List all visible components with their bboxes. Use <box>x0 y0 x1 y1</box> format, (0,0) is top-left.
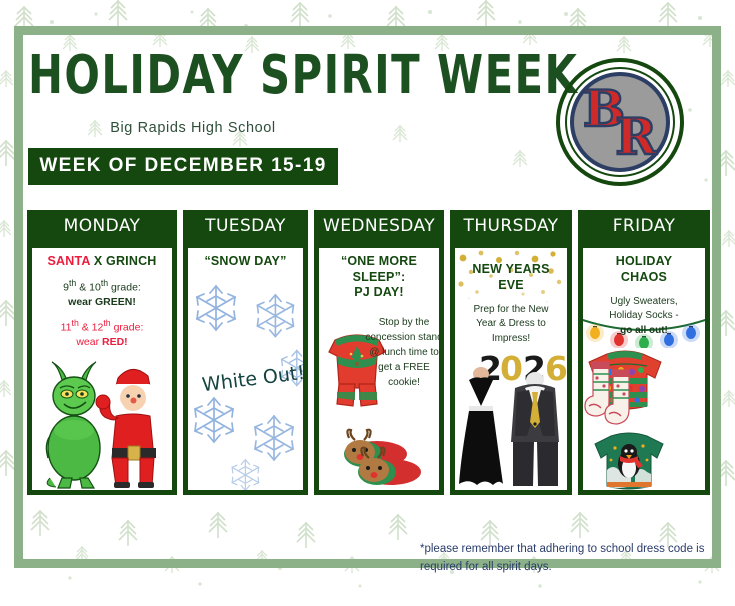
day-body-monday: SANTA X GRINCH 9th & 10th grade:wear GRE… <box>27 243 177 495</box>
monday-headline: SANTA X GRINCH <box>36 254 168 270</box>
thursday-art-gown-suit <box>455 366 567 490</box>
monday-art-grinch-santa <box>32 340 172 490</box>
br-logo: B R <box>556 58 684 186</box>
friday-art-holiday-socks <box>583 358 637 430</box>
dress-code-note: *please remember that adhering to school… <box>420 541 720 577</box>
thursday-headline-l1: NEW YEARS <box>472 262 549 276</box>
day-header-monday: MONDAY <box>27 210 177 243</box>
wednesday-headline-l1: “ONE MORE <box>341 254 417 268</box>
svg-text:R: R <box>615 107 657 166</box>
day-column-tuesday[interactable]: TUESDAY “SNOW DAY” <box>183 210 308 495</box>
day-body-thursday: NEW YEARS EVE Prep for the New Year & Dr… <box>450 243 572 495</box>
date-banner: WEEK OF DECEMBER 15-19 <box>28 148 338 185</box>
friday-body-l2: Holiday Socks - <box>609 310 678 321</box>
friday-body-text: Ugly Sweaters, Holiday Socks - go all ou… <box>587 295 701 338</box>
school-name: Big Rapids High School <box>28 120 358 136</box>
day-column-friday[interactable]: FRIDAY HOLIDAY CHAOS Ugly Sweaters, Holi… <box>578 210 710 495</box>
day-column-thursday[interactable]: THURSDAY <box>450 210 572 495</box>
day-header-thursday: THURSDAY <box>450 210 572 243</box>
poster-header: HOLIDAY SPIRIT WEEK Big Rapids High Scho… <box>28 48 528 185</box>
monday-headline-santa: SANTA <box>47 254 90 268</box>
thursday-headline-l2: EVE <box>498 278 524 292</box>
black-gown-icon <box>459 367 503 488</box>
friday-body-l3: go all out! <box>620 325 668 336</box>
friday-art-penguin-sweater <box>589 430 669 494</box>
wednesday-headline-l3: PJ DAY! <box>354 285 404 299</box>
gray-suit-icon <box>511 372 559 486</box>
spirit-week-days: MONDAY SANTA X GRINCH 9th & 10th grade:w… <box>27 210 710 495</box>
day-column-wednesday[interactable]: WEDNESDAY “ONE MORE SLEEP”: PJ DAY! Stop… <box>314 210 444 495</box>
wednesday-headline-l2: SLEEP”: <box>353 270 406 284</box>
day-header-wednesday: WEDNESDAY <box>314 210 444 243</box>
friday-headline-l1: HOLIDAY <box>616 254 673 268</box>
friday-headline-l2: CHAOS <box>621 270 667 284</box>
reindeer-slippers-icon <box>344 430 421 485</box>
day-body-tuesday: “SNOW DAY” <box>183 243 308 495</box>
penguin-sweater-icon <box>595 433 663 489</box>
friday-body-l1: Ugly Sweaters, <box>610 296 677 307</box>
holiday-socks-icon <box>585 362 629 424</box>
day-header-tuesday: TUESDAY <box>183 210 308 243</box>
monday-grade-line-1: 9th & 10th grade:wear GREEN! <box>36 277 168 310</box>
day-column-monday[interactable]: MONDAY SANTA X GRINCH 9th & 10th grade:w… <box>27 210 177 495</box>
grinch-icon <box>46 362 100 488</box>
page-title: HOLIDAY SPIRIT WEEK <box>28 48 503 104</box>
day-body-friday: HOLIDAY CHAOS Ugly Sweaters, Holiday Soc… <box>578 243 710 495</box>
thursday-headline: NEW YEARS EVE <box>459 262 563 293</box>
day-header-friday: FRIDAY <box>578 210 710 243</box>
wednesday-headline: “ONE MORE SLEEP”: PJ DAY! <box>323 254 435 301</box>
thursday-body-text: Prep for the New Year & Dress to Impress… <box>459 303 563 346</box>
monday-grade-line-2: 11th & 12th grade:wear RED! <box>36 317 168 350</box>
santa-icon <box>96 364 158 488</box>
friday-headline: HOLIDAY CHAOS <box>587 254 701 285</box>
day-body-wednesday: “ONE MORE SLEEP”: PJ DAY! Stop by the co… <box>314 243 444 495</box>
wednesday-art-reindeer-slippers <box>333 426 429 488</box>
wednesday-body-text: Stop by the concession stand @ lunch tim… <box>365 315 443 390</box>
tuesday-headline: “SNOW DAY” <box>192 254 299 270</box>
monday-headline-grinch: X GRINCH <box>90 254 156 268</box>
